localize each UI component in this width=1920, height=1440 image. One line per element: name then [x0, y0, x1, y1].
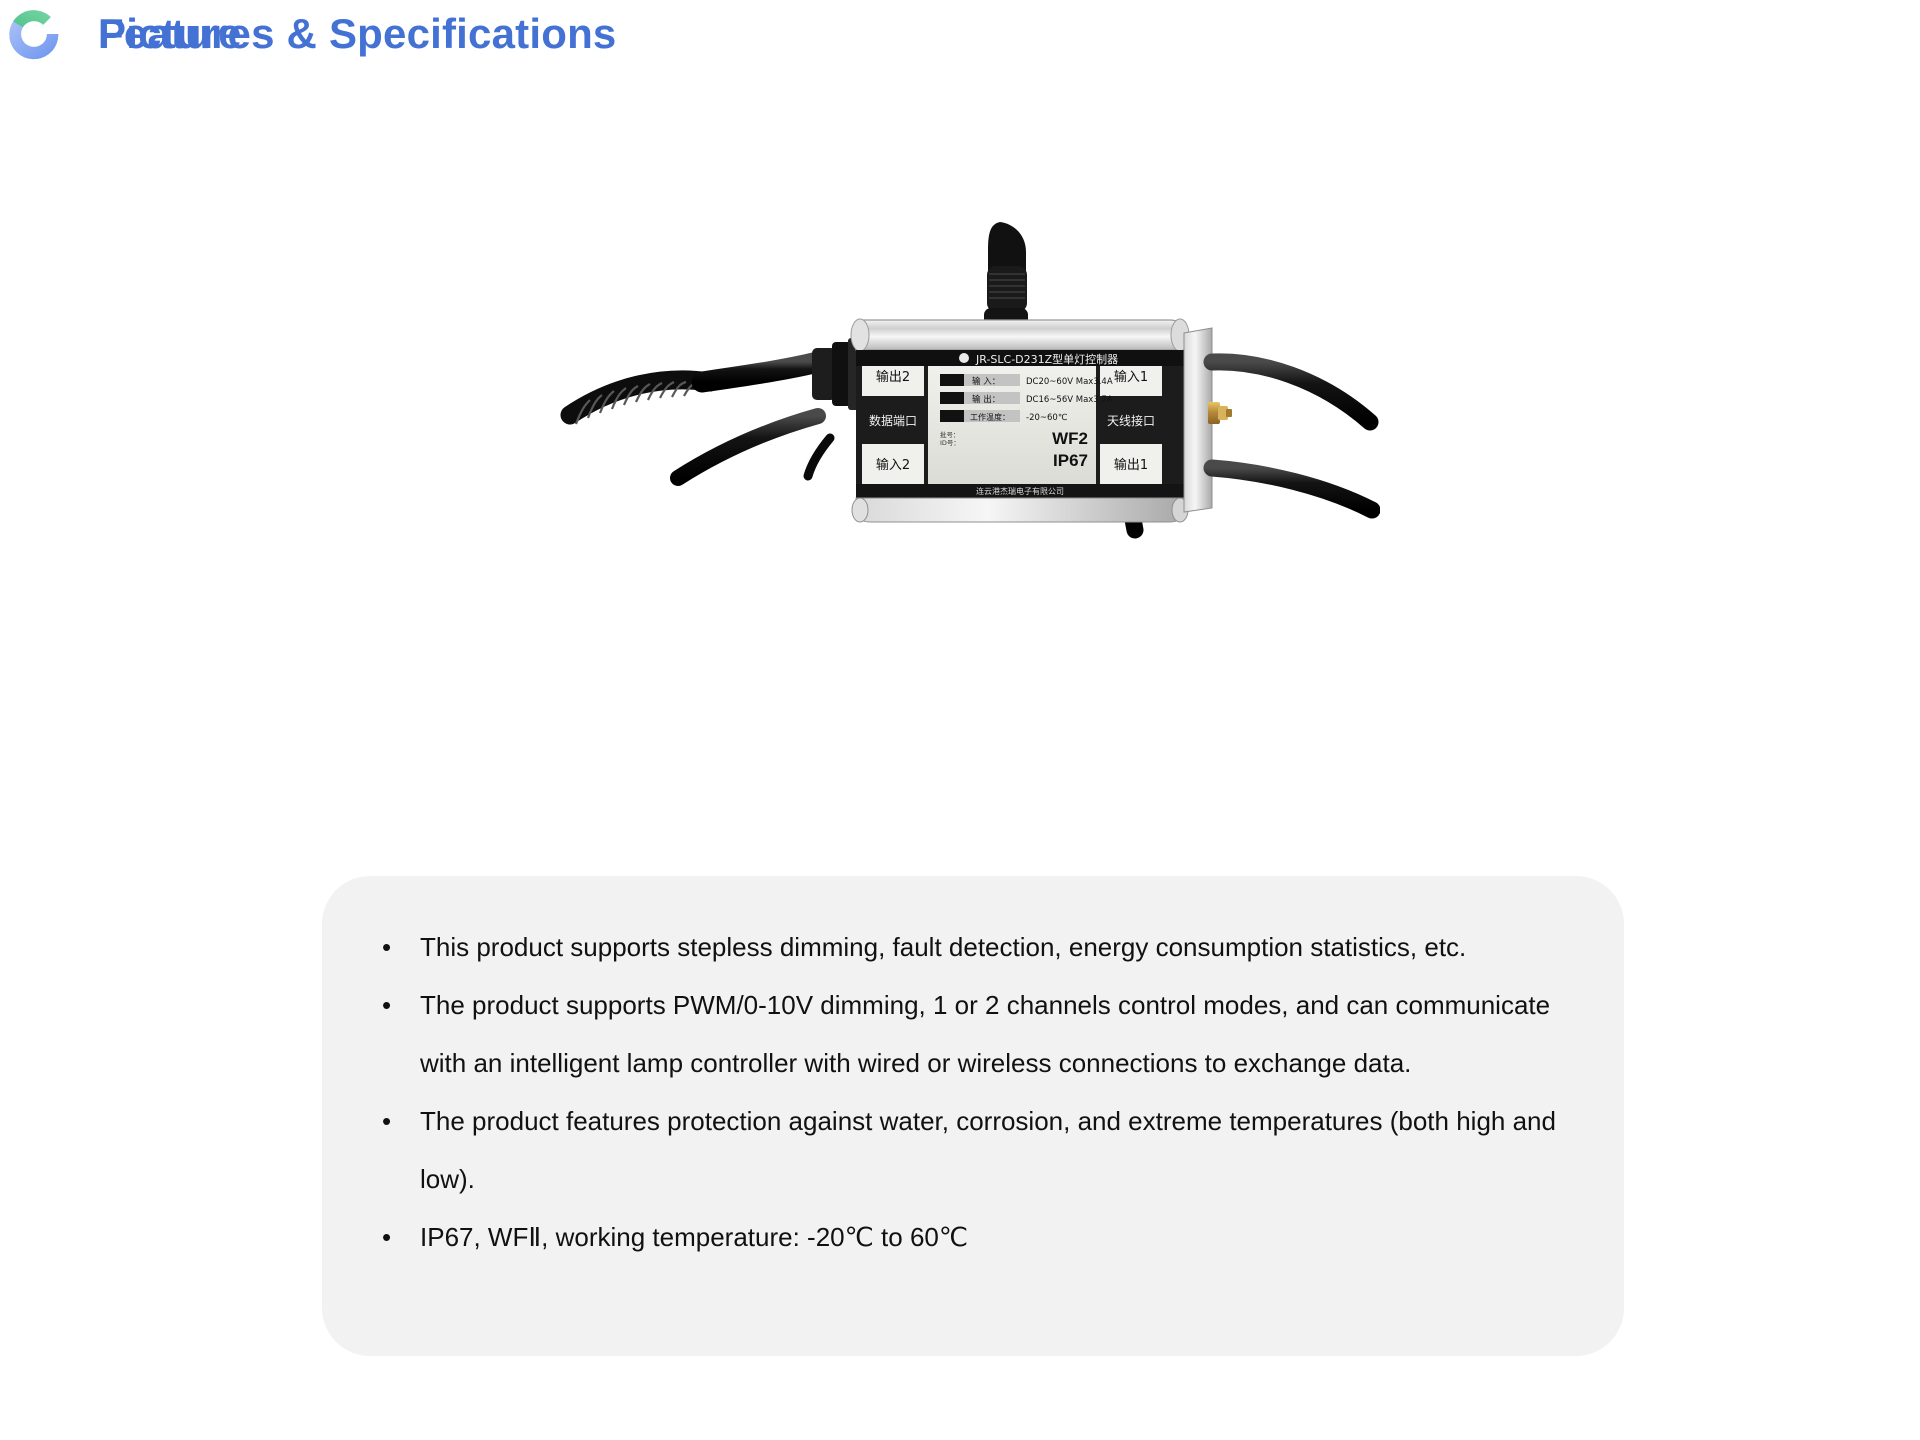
- page-title-features: Features & Specifications: [98, 13, 617, 55]
- page-root: Picture: [0, 0, 1920, 1440]
- svg-text:DC20~60V Max3.4A: DC20~60V Max3.4A: [1026, 377, 1113, 387]
- svg-text:工作温度：: 工作温度：: [970, 412, 1010, 422]
- left-port-column: 输出2 数据端口 输入2: [862, 356, 924, 484]
- list-item: The product supports PWM/0-10V dimming, …: [362, 976, 1584, 1092]
- corrugated-cable: [570, 380, 710, 424]
- svg-text:天线接口: 天线接口: [1107, 413, 1155, 428]
- antenna-connector: [1208, 402, 1232, 424]
- spec-bullet-text: The product supports PWM/0-10V dimming, …: [420, 976, 1584, 1092]
- spec-bullet-text: This product supports stepless dimming, …: [420, 918, 1584, 976]
- svg-text:输 出：: 输 出：: [972, 394, 1000, 405]
- svg-text:连云港杰瑞电子有限公司: 连云港杰瑞电子有限公司: [976, 486, 1064, 496]
- cable-gland-left: [812, 338, 862, 410]
- list-item: IP67, WFⅡ, working temperature: -20℃ to …: [362, 1208, 1584, 1266]
- svg-text:输出1: 输出1: [1114, 457, 1148, 473]
- list-item: This product supports stepless dimming, …: [362, 918, 1584, 976]
- device-model-title: JR-SLC-D231Z型单灯控制器: [959, 352, 1118, 366]
- list-item: The product features protection against …: [362, 1092, 1584, 1208]
- svg-text:输 入：: 输 入：: [972, 376, 1000, 387]
- svg-text:-20~60℃: -20~60℃: [1026, 413, 1068, 423]
- section-header-features: Features & Specifications: [0, 0, 617, 68]
- svg-text:JR-SLC-D231Z型单灯控制器: JR-SLC-D231Z型单灯控制器: [975, 352, 1118, 366]
- right-port-column: 输入1 天线接口 输出1: [1100, 356, 1162, 484]
- spec-bullet-text: IP67, WFⅡ, working temperature: -20℃ to …: [420, 1208, 1584, 1266]
- product-photo: 输出2 数据端口 输入2 输入1 天线接口 输出1 JR-SLC-D231Z型单…: [560, 210, 1380, 570]
- c-ring-logo-icon: [0, 0, 68, 68]
- spec-bullet-text: The product features protection against …: [420, 1092, 1584, 1208]
- svg-text:IP67: IP67: [1053, 451, 1088, 470]
- svg-text:ID号：: ID号：: [940, 439, 960, 447]
- svg-text:WF2: WF2: [1052, 429, 1088, 448]
- specifications-card: This product supports stepless dimming, …: [322, 876, 1624, 1356]
- svg-text:数据端口: 数据端口: [869, 413, 917, 428]
- svg-text:输入2: 输入2: [876, 457, 910, 473]
- svg-text:输出2: 输出2: [876, 369, 910, 385]
- svg-text:批号：: 批号：: [940, 430, 960, 439]
- svg-text:DC16~56V Max3.7A: DC16~56V Max3.7A: [1026, 395, 1113, 405]
- svg-text:输入1: 输入1: [1114, 369, 1148, 385]
- specifications-list: This product supports stepless dimming, …: [362, 918, 1584, 1266]
